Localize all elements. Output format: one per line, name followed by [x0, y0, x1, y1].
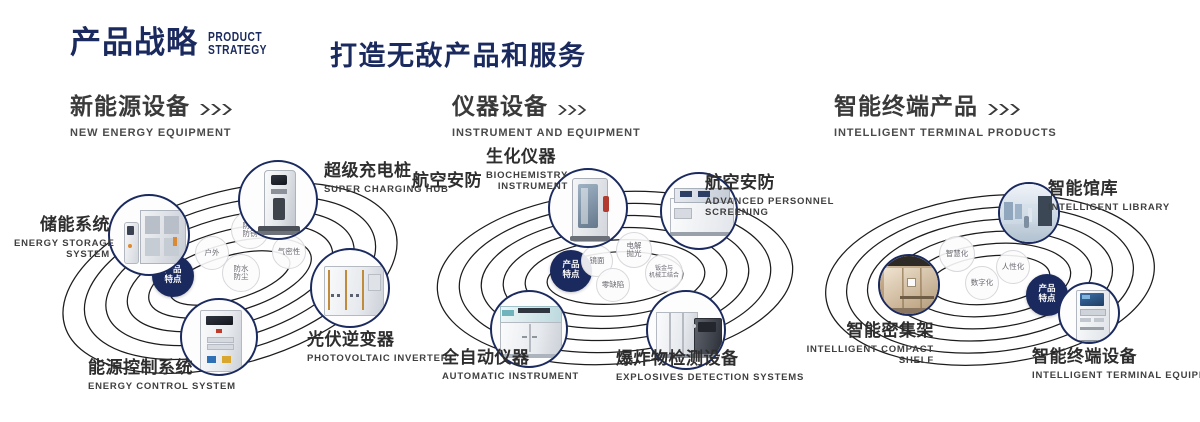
chevron-right-triple-icon [988, 103, 1022, 119]
feature-bubble-zero-defect: 零缺陷 [596, 268, 630, 302]
feature-bubble-digital: 数字化 [965, 266, 999, 300]
section-title-cn: 新能源设备 [70, 96, 190, 119]
feature-bubble-smart: 智慧化 [939, 236, 975, 272]
node-label-energy-control-system: 能源控制系统 ENERGY CONTROL SYSTEM [88, 359, 236, 392]
feature-bubble-airtight: 气密性 [272, 235, 306, 269]
page-title: 产品战略 PRODUCT STRATEGY [70, 28, 280, 59]
pv-inverter-cabinet-photo [312, 250, 388, 326]
charging-pile-photo [240, 162, 316, 238]
energy-storage-cabinet-photo [110, 196, 188, 274]
node-label-intelligent-terminal-equipment: 智能终端设备 INTELLIGENT TERMINAL EQUIPMENT [1032, 348, 1200, 381]
node-label-explosives-detection-systems: 爆炸物检测设备 EXPLOSIVES DETECTION SYSTEMS [616, 350, 804, 383]
terminal-kiosk-photo [1060, 284, 1118, 342]
page-title-en: PRODUCT STRATEGY [208, 31, 267, 57]
node-label-automatic-instrument: 全自动仪器 AUTOMATIC INSTRUMENT [442, 349, 579, 382]
node-label-intelligent-library: 智能馆库 INTELLIGENT LIBRARY [1048, 180, 1170, 213]
node-photovoltaic-inverter[interactable] [310, 248, 390, 328]
section-title-new-energy: 新能源设备 NEW ENERGY EQUIPMENT [70, 96, 234, 139]
section-title-instrument: 仪器设备 INSTRUMENT AND EQUIPMENT [452, 96, 641, 139]
node-intelligent-terminal-equipment[interactable] [1058, 282, 1120, 344]
node-label-intelligent-compact-shelf: 智能密集架 INTELLIGENT COMPACT SHELF [800, 322, 934, 367]
feature-core-line2: 特点 [164, 275, 181, 285]
cluster-intelligent-terminal-products: 智慧化 数字化 人性化 产品 特点 智能馆库 INTELLIGENT LIBRA… [810, 150, 1200, 400]
feature-bubble-waterproof: 防水 防尘 [222, 254, 260, 292]
node-label-aviation-security-left: 航空安防 [412, 172, 482, 192]
feature-bubble-sheetmetal-machining: 钣金与 机械工结合 [645, 254, 683, 292]
section-title-en: NEW ENERGY EQUIPMENT [70, 127, 234, 139]
cluster-instrument-and-equipment: 产品 特点 镜面 电解 抛光 零缺陷 钣金与 机械工结合 航空安防 [420, 150, 810, 400]
node-label-biochemistry-instrument: 生化仪器 BIOCHEMISTRY INSTRUMENT [486, 148, 568, 193]
compact-shelf-photo [880, 256, 938, 314]
chevron-right-triple-icon [200, 103, 234, 119]
poster-canvas: 产品战略 PRODUCT STRATEGY 打造无敌产品和服务 新能源设备 NE… [0, 0, 1200, 422]
node-label-energy-storage-system: 储能系统 ENERGY STORAGE SYSTEM [14, 216, 110, 261]
section-title-intelligent-terminal: 智能终端产品 INTELLIGENT TERMINAL PRODUCTS [834, 96, 1057, 139]
chevron-right-triple-icon [558, 104, 588, 119]
section-title-en: INSTRUMENT AND EQUIPMENT [452, 127, 641, 139]
feature-bubble-humanized: 人性化 [996, 250, 1030, 284]
section-title-cn: 智能终端产品 [834, 96, 978, 119]
node-energy-storage-system[interactable] [108, 194, 190, 276]
page-title-en-line2: STRATEGY [208, 44, 267, 57]
section-title-en: INTELLIGENT TERMINAL PRODUCTS [834, 127, 1057, 139]
node-super-charging-hub[interactable] [238, 160, 318, 240]
section-title-cn: 仪器设备 [452, 96, 548, 119]
page-title-cn: 产品战略 [70, 28, 198, 59]
cluster-new-energy-equipment: 产品 特点 户外 防腐 防锈 防水 防尘 气密性 [40, 150, 420, 400]
page-subtitle: 打造无敌产品和服务 [330, 34, 587, 73]
node-intelligent-compact-shelf[interactable] [878, 254, 940, 316]
